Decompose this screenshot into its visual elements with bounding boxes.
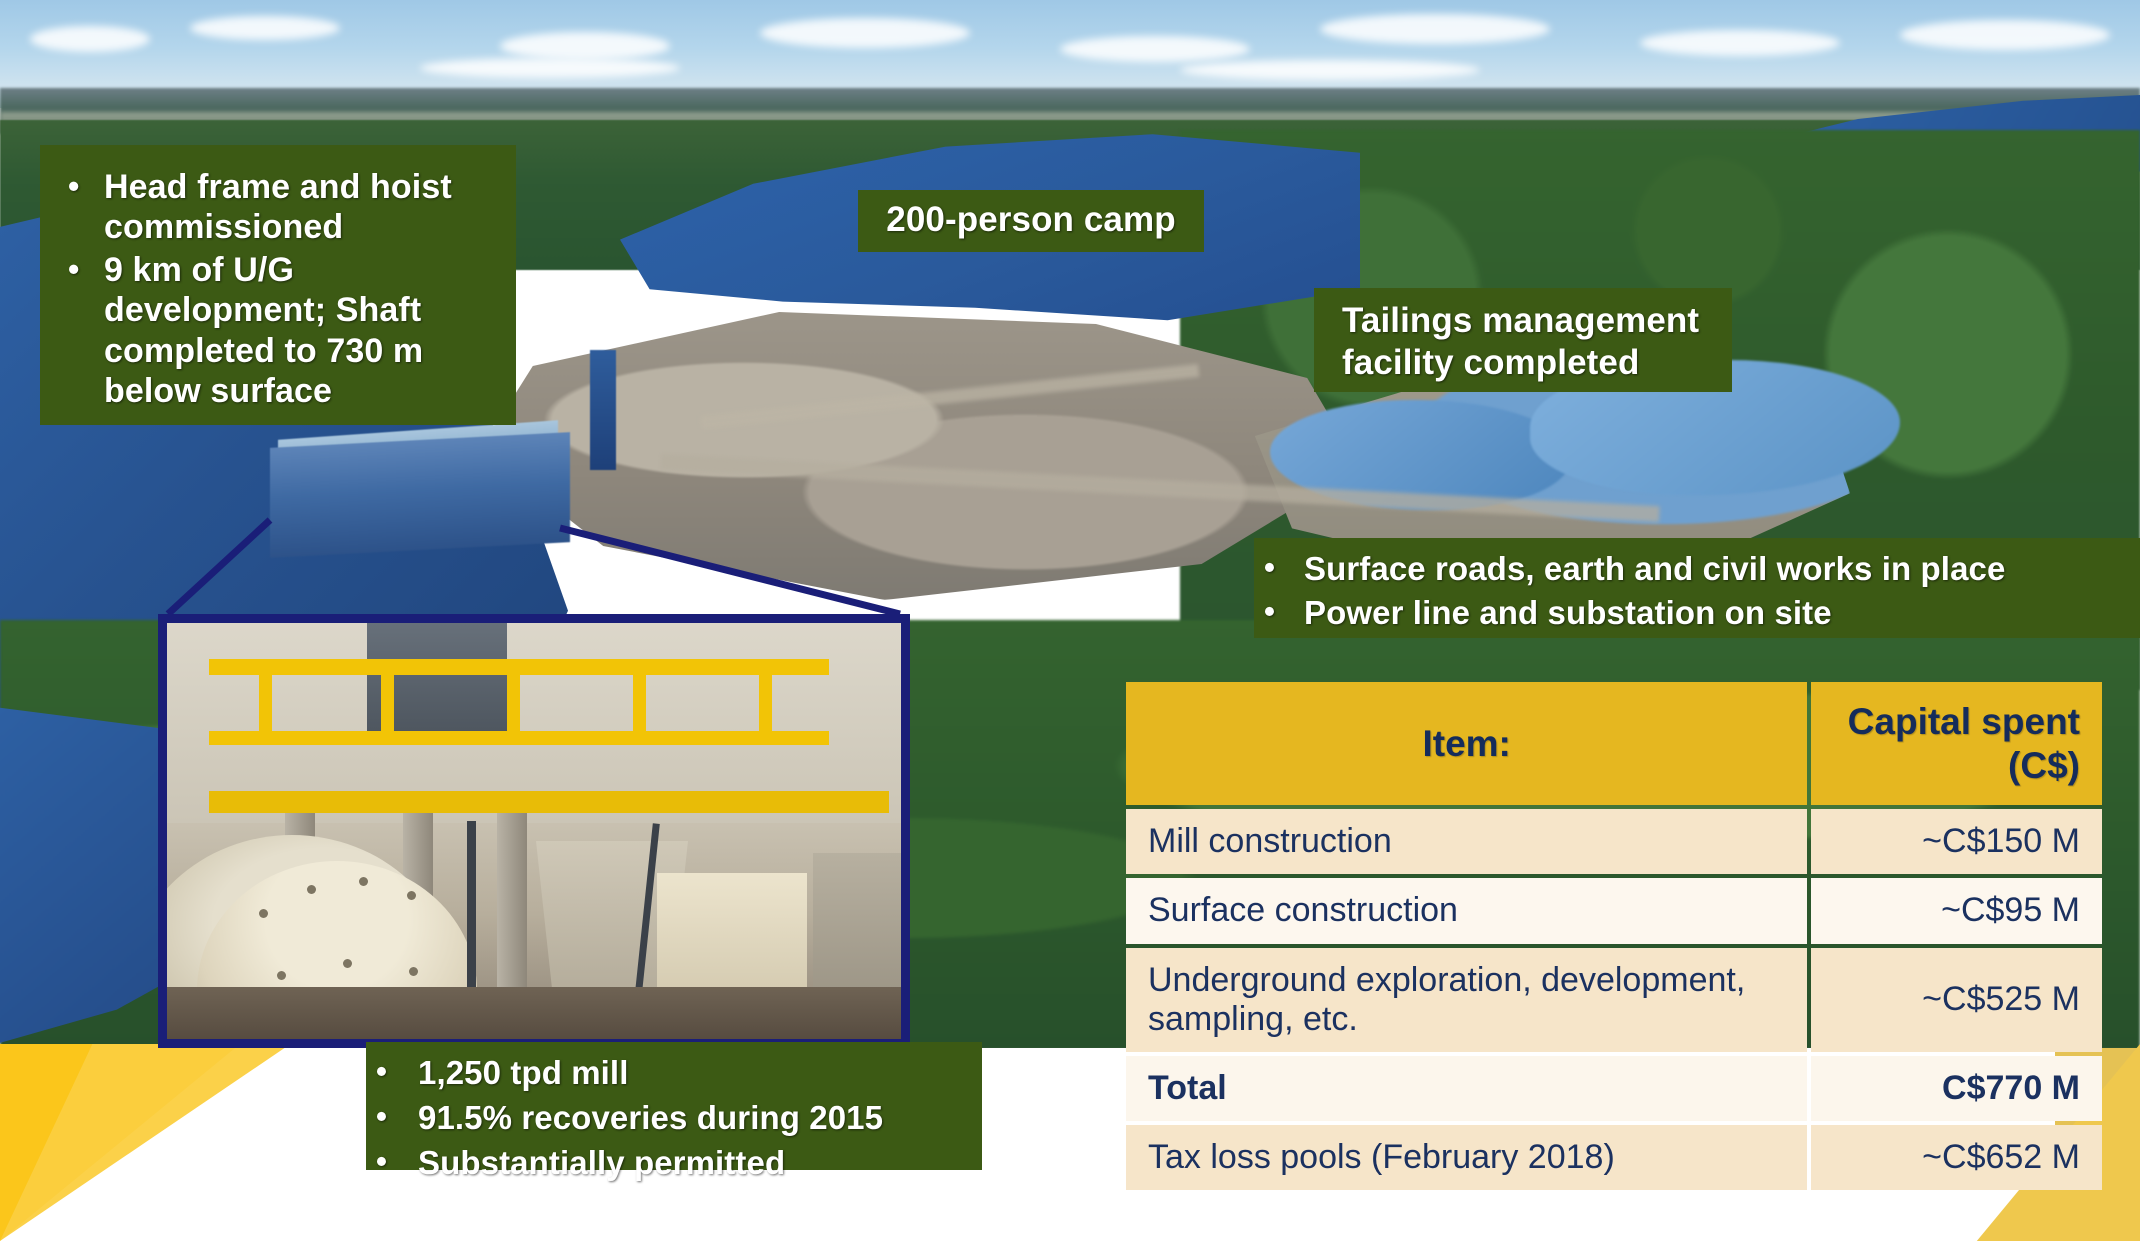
mill-railing-post	[759, 659, 772, 745]
table-cell-value: ~C$525 M	[1811, 948, 2102, 1052]
table-header-row: Item: Capital spent (C$)	[1126, 682, 2102, 805]
mill-bolt	[407, 891, 416, 900]
callout-mill-list: 1,250 tpd mill 91.5% recoveries during 2…	[366, 1052, 982, 1185]
mill-bolt	[307, 885, 316, 894]
table-row: Surface construction ~C$95 M	[1126, 878, 2102, 943]
mill-bolt	[277, 971, 286, 980]
cloud	[1180, 60, 1480, 80]
mill-building	[270, 432, 570, 558]
callout-mill: 1,250 tpd mill 91.5% recoveries during 2…	[366, 1042, 982, 1170]
callout-headframe-bullet-1: Head frame and hoist commissioned	[58, 167, 498, 248]
callout-mill-bullet-1: 1,250 tpd mill	[366, 1052, 982, 1095]
table-row: Mill construction ~C$150 M	[1126, 809, 2102, 874]
cloud	[30, 26, 150, 52]
callout-roads-bullet-2: Power line and substation on site	[1254, 592, 2140, 634]
cloud	[1900, 20, 2110, 50]
mill-railing-post	[633, 659, 646, 745]
cloud	[760, 18, 970, 48]
callout-roads-list: Surface roads, earth and civil works in …	[1254, 548, 2140, 634]
table-cell-item: Underground exploration, development, sa…	[1126, 948, 1807, 1052]
table-cell-value: C$770 M	[1811, 1056, 2102, 1121]
table-cell-item: Surface construction	[1126, 878, 1807, 943]
callout-camp: 200-person camp	[858, 190, 1204, 252]
cloud	[1060, 36, 1250, 62]
mill-interior-scene	[167, 623, 901, 1039]
slide-canvas: Head frame and hoist commissioned 9 km o…	[0, 0, 2140, 1241]
callout-roads-bullet-1: Surface roads, earth and civil works in …	[1254, 548, 2140, 590]
table-cell-value: ~C$652 M	[1811, 1125, 2102, 1190]
mill-interior-photo	[158, 614, 910, 1048]
mill-bolt	[259, 909, 268, 918]
table-row: Underground exploration, development, sa…	[1126, 948, 2102, 1052]
cloud	[420, 58, 680, 78]
table-cell-item: Mill construction	[1126, 809, 1807, 874]
mill-railing-post	[381, 659, 394, 745]
callout-mill-bullet-2: 91.5% recoveries during 2015	[366, 1097, 982, 1140]
callout-tailings-label: Tailings management facility completed	[1342, 301, 1699, 382]
callout-tailings: Tailings management facility completed	[1314, 288, 1732, 392]
mill-bolt	[409, 967, 418, 976]
callout-roads: Surface roads, earth and civil works in …	[1254, 538, 2140, 638]
table-cell-item: Tax loss pools (February 2018)	[1126, 1125, 1807, 1190]
table-header-capital: Capital spent (C$)	[1811, 682, 2102, 805]
callout-camp-label: 200-person camp	[886, 200, 1175, 239]
cloud	[1640, 30, 1840, 56]
capital-spent-table: Item: Capital spent (C$) Mill constructi…	[1122, 678, 2106, 1194]
callout-mill-bullet-3: Substantially permitted	[366, 1142, 982, 1185]
head-frame-structure	[590, 350, 616, 470]
callout-headframe: Head frame and hoist commissioned 9 km o…	[40, 145, 516, 425]
mill-railing-post	[507, 659, 520, 745]
table-row-total: Total C$770 M	[1126, 1056, 2102, 1121]
mill-bolt	[343, 959, 352, 968]
table-header-item: Item:	[1126, 682, 1807, 805]
cloud	[500, 32, 670, 60]
mill-walkway-deck	[209, 791, 889, 813]
mill-railing-post	[259, 659, 272, 745]
capital-spent-table-head: Item: Capital spent (C$)	[1126, 682, 2102, 805]
table-cell-item: Total	[1126, 1056, 1807, 1121]
table-row: Tax loss pools (February 2018) ~C$652 M	[1126, 1125, 2102, 1190]
cloud	[190, 16, 340, 40]
table-cell-value: ~C$95 M	[1811, 878, 2102, 943]
capital-spent-table-body: Mill construction ~C$150 M Surface const…	[1126, 809, 2102, 1190]
cloud	[1320, 14, 1550, 44]
callout-headframe-bullet-2: 9 km of U/G development; Shaft completed…	[58, 250, 498, 412]
mill-bolt	[359, 877, 368, 886]
callout-headframe-list: Head frame and hoist commissioned 9 km o…	[58, 167, 498, 412]
mill-floor	[167, 987, 901, 1039]
table-cell-value: ~C$150 M	[1811, 809, 2102, 874]
